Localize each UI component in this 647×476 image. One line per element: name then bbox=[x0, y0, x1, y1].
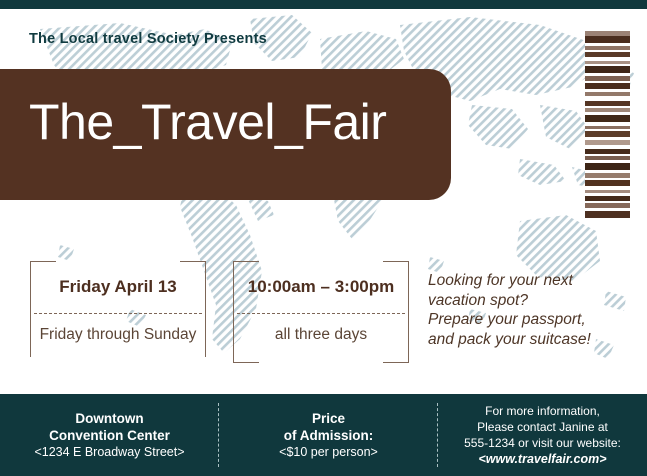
barcode-bar bbox=[585, 36, 630, 43]
footer: Downtown Convention Center <1234 E Broad… bbox=[0, 394, 647, 476]
barcode-bar bbox=[585, 115, 630, 122]
contact-website: <www.travelfair.com> bbox=[478, 451, 606, 468]
promo-line-3: Prepare your passport, bbox=[428, 310, 591, 330]
top-accent-strip bbox=[0, 0, 647, 9]
page-title: The_Travel_Fair bbox=[29, 97, 386, 147]
barcode-bar bbox=[585, 66, 630, 73]
travel-fair-ticket: The Local travel Society Presents The_Tr… bbox=[0, 0, 647, 476]
date-subline: Friday through Sunday bbox=[30, 314, 206, 356]
price-line-1: Price bbox=[312, 410, 345, 427]
promo-line-4: and pack your suitcase! bbox=[428, 330, 591, 350]
date-box: Friday April 13 Friday through Sunday bbox=[30, 261, 206, 357]
venue-line-1: Downtown bbox=[75, 410, 143, 427]
contact-line-3: 555-1234 or visit our website: bbox=[464, 435, 621, 451]
time-box: 10:00am – 3:00pm all three days bbox=[233, 261, 409, 363]
footer-price: Price of Admission: <$10 per person> bbox=[219, 394, 438, 476]
time-headline: 10:00am – 3:00pm bbox=[233, 261, 409, 313]
barcode bbox=[585, 28, 630, 222]
presenter-line: The Local travel Society Presents bbox=[29, 31, 267, 47]
contact-line-2: Please contact Janine at bbox=[477, 419, 608, 435]
barcode-bar bbox=[585, 211, 630, 218]
barcode-bar bbox=[585, 218, 630, 222]
date-headline: Friday April 13 bbox=[30, 261, 206, 313]
footer-venue: Downtown Convention Center <1234 E Broad… bbox=[0, 394, 219, 476]
price-line-2: of Admission: bbox=[284, 427, 374, 444]
promo-text: Looking for your next vacation spot? Pre… bbox=[428, 271, 591, 349]
footer-contact: For more information, Please contact Jan… bbox=[438, 394, 647, 476]
promo-line-2: vacation spot? bbox=[428, 291, 591, 311]
promo-line-1: Looking for your next bbox=[428, 271, 591, 291]
price-amount: <$10 per person> bbox=[279, 444, 378, 460]
contact-line-1: For more information, bbox=[485, 403, 600, 419]
time-subline: all three days bbox=[233, 314, 409, 356]
barcode-bar bbox=[585, 163, 630, 170]
venue-address: <1234 E Broadway Street> bbox=[34, 444, 184, 460]
venue-line-2: Convention Center bbox=[49, 427, 170, 444]
